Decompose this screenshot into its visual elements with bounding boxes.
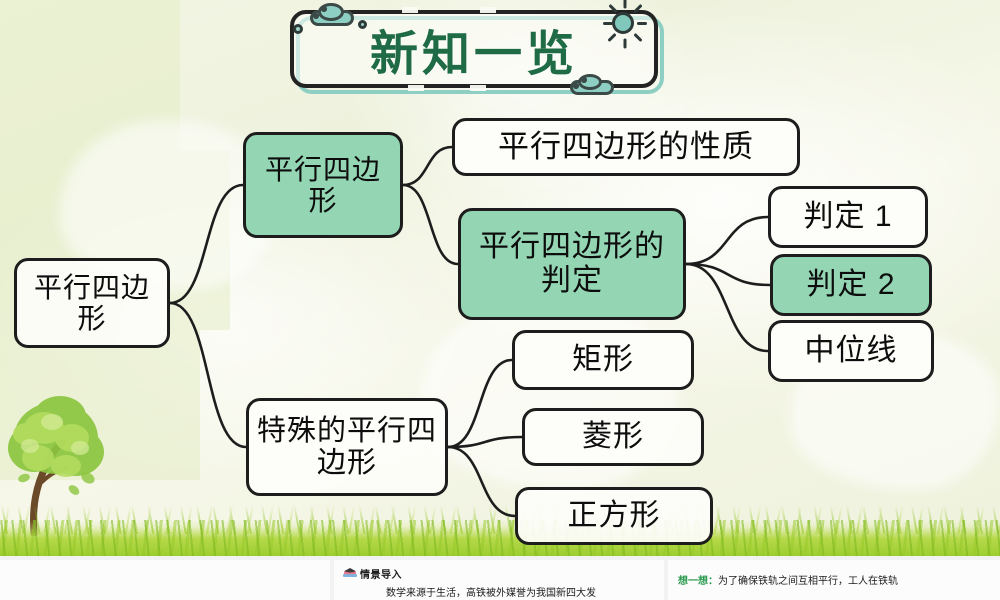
note-panel-left <box>0 560 330 600</box>
mindmap-node-label: 判定 2 <box>800 268 901 302</box>
mindmap-node-root[interactable]: 平行四边形 <box>14 258 170 348</box>
mindmap-node-rectangle[interactable]: 矩形 <box>512 330 694 390</box>
connector-parallelogram-to-properties <box>403 147 452 185</box>
mindmap-node-special-parallelogram[interactable]: 特殊的平行四边形 <box>246 398 448 496</box>
mindmap-node-label: 菱形 <box>576 420 650 454</box>
mindmap-node-label: 平行四边形的判定 <box>461 230 683 297</box>
note-right-body: 为了确保铁轨之间互相平行，工人在铁轨 <box>718 576 898 587</box>
note-panel-right[interactable]: 想一想：为了确保铁轨之间互相平行，工人在铁轨 <box>668 560 1000 600</box>
note-right-line: 想一想：为了确保铁轨之间互相平行，工人在铁轨 <box>678 572 994 587</box>
slide-canvas: 新知一览 <box>0 0 1000 556</box>
mindmap-node-square[interactable]: 正方形 <box>515 487 713 545</box>
mindmap-node-label: 判定 1 <box>797 200 898 234</box>
mindmap-node-label: 中位线 <box>799 334 904 368</box>
note-panel-center[interactable]: 情景导入 数学来源于生活，高铁被外媒誉为我国新四大发 <box>334 560 664 600</box>
mindmap-node-label: 正方形 <box>562 499 667 533</box>
mindmap-node-parallelogram[interactable]: 平行四边形 <box>243 132 403 238</box>
mindmap-node-label: 平行四边形 <box>246 154 400 217</box>
connector-determination-to-criterion-1 <box>686 217 768 264</box>
mindmap-node-label: 平行四边形的性质 <box>492 130 760 165</box>
mindmap-node-label: 特殊的平行四边形 <box>249 415 445 480</box>
connector-parallelogram-to-determination <box>403 185 458 264</box>
connector-root-to-parallelogram <box>170 185 243 303</box>
mindmap-node-label: 矩形 <box>566 343 640 377</box>
think-label: 想一想： <box>678 576 718 587</box>
connector-root-to-special-parallelogram <box>170 303 246 447</box>
connector-determination-to-midline <box>686 264 768 351</box>
mindmap-node-midline[interactable]: 中位线 <box>768 320 934 382</box>
mindmap-node-rhombus[interactable]: 菱形 <box>522 408 704 466</box>
note-center-body: 数学来源于生活，高铁被外媒誉为我国新四大发 <box>360 581 656 599</box>
mindmap-node-label: 平行四边形 <box>17 272 167 335</box>
books-icon <box>342 567 358 579</box>
notes-strip: 情景导入 数学来源于生活，高铁被外媒誉为我国新四大发 想一想：为了确保铁轨之间互… <box>0 556 1000 600</box>
connector-special-parallelogram-to-rectangle <box>448 360 512 447</box>
mindmap-node-determination[interactable]: 平行四边形的判定 <box>458 208 686 320</box>
mindmap-node-criterion-1[interactable]: 判定 1 <box>768 186 928 248</box>
mindmap-node-criterion-2[interactable]: 判定 2 <box>770 254 932 316</box>
mind-map: 平行四边形平行四边形平行四边形的性质平行四边形的判定判定 1判定 2中位线特殊的… <box>0 0 1000 556</box>
mindmap-node-properties[interactable]: 平行四边形的性质 <box>452 118 800 176</box>
note-center-heading: 情景导入 <box>360 566 656 581</box>
connector-special-parallelogram-to-square <box>448 447 515 516</box>
